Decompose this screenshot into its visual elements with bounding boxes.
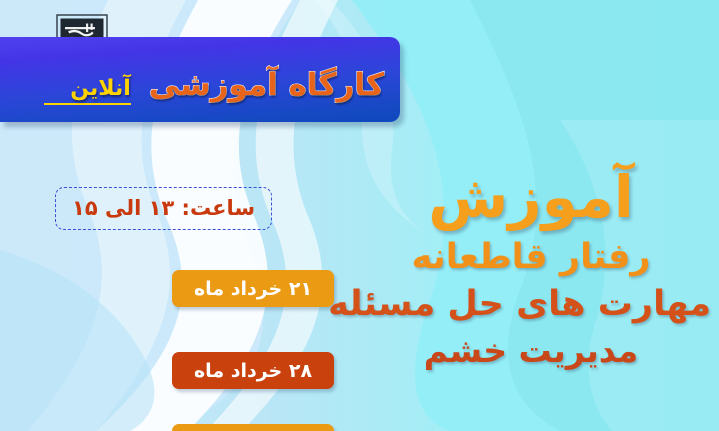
banner-content: کارگاه آموزشی آنلاین <box>44 67 388 105</box>
date-badge-third: ۴ تیر ماه <box>172 424 334 431</box>
banner-subtitle-online: آنلاین <box>44 76 131 105</box>
date-badge-second: ۲۸ خرداد ماه <box>172 352 334 389</box>
date-badge-second-label: ۲۸ خرداد ماه <box>194 360 312 382</box>
date-badge-first: ۲۱ خرداد ماه <box>172 270 334 307</box>
banner-title: کارگاه آموزشی <box>149 67 384 103</box>
workshop-banner: کارگاه آموزشی آنلاین <box>0 37 400 122</box>
time-badge-label: ساعت: ۱۳ الی ۱۵ <box>72 196 255 220</box>
time-badge: ساعت: ۱۳ الی ۱۵ <box>55 187 272 230</box>
date-badge-first-label: ۲۱ خرداد ماه <box>194 278 312 300</box>
workshop-poster: معاونت فرهنگی و اجتماعی مرکز مشاوره و آم… <box>0 0 719 431</box>
